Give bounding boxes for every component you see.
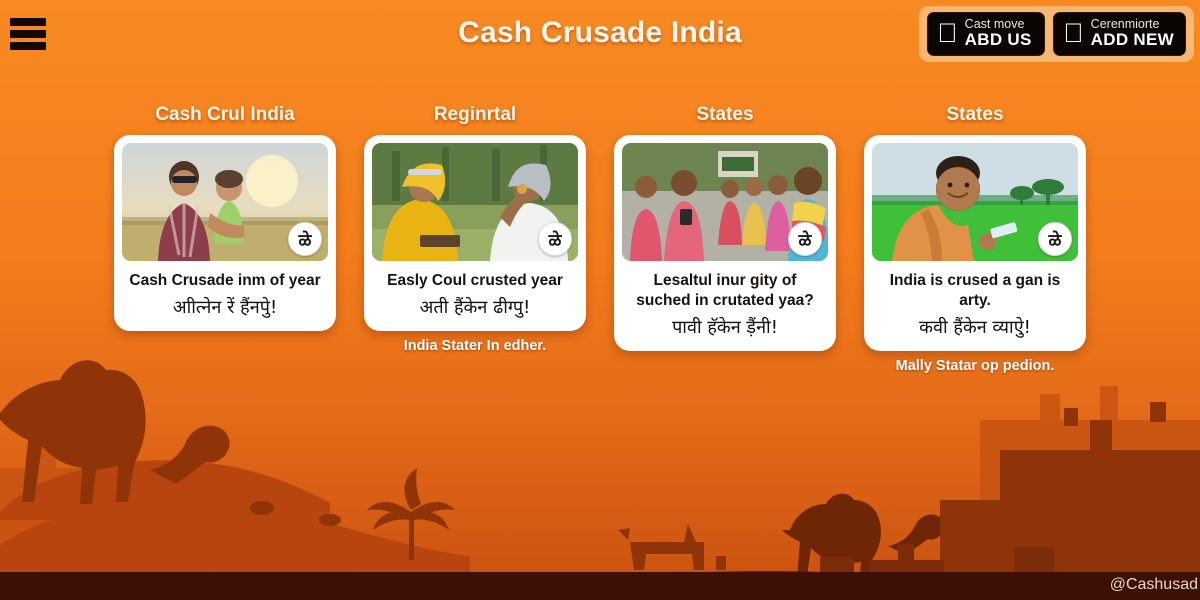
card-badge-icon: ळे — [288, 222, 322, 256]
store-button-add-new[interactable]:  Cerenmiorte ADD NEW — [1053, 12, 1186, 56]
card-badge-icon: ळे — [1038, 222, 1072, 256]
card-column: Cash Crul India — [114, 104, 336, 374]
card-badge-icon: ळे — [788, 222, 822, 256]
card-image: ळे — [122, 143, 328, 261]
app-header: Cash Crusade India  Cast move ABD US  … — [0, 0, 1200, 72]
apple-icon:  — [937, 20, 957, 46]
card-title-hi: आीत्नेन रें हैंनपुे! — [129, 296, 320, 319]
store-button-bottom-label: ADD NEW — [1091, 31, 1174, 49]
store-button-abd-us[interactable]:  Cast move ABD US — [927, 12, 1045, 56]
card-heading: Cash Crul India — [155, 104, 294, 126]
card-heading: States — [946, 104, 1003, 126]
apple-icon:  — [1063, 20, 1083, 46]
card-caption: Mally Statar op pedion. — [896, 358, 1055, 374]
card-title-en: India is crused a gan is arty. — [878, 271, 1072, 311]
store-buttons-group:  Cast move ABD US  Cerenmiorte ADD NEW — [919, 6, 1194, 62]
card-badge-icon: ळे — [538, 222, 572, 256]
card-caption: India Stater In edher. — [404, 338, 547, 354]
card-column: Reginrtal — [364, 104, 586, 374]
card-item[interactable]: ळे India is crused a gan is arty. कवी है… — [864, 135, 1086, 351]
card-title-en: Easly Coul crusted year — [387, 271, 563, 291]
card-item[interactable]: ळे Cash Crusade inm of year आीत्नेन रें … — [114, 135, 336, 331]
card-image: ळे — [872, 143, 1078, 261]
card-item[interactable]: ळे Lesaltul inur gity of suched in cruta… — [614, 135, 836, 351]
card-body: Lesaltul inur gity of suched in crutated… — [622, 261, 828, 339]
card-body: Cash Crusade inm of year आीत्नेन रें हैं… — [123, 261, 326, 319]
card-title-en: Lesaltul inur gity of suched in crutated… — [628, 271, 822, 311]
card-title-hi: पावी हॅकेन ड़ैंनी! — [628, 316, 822, 339]
card-title-en: Cash Crusade inm of year — [129, 271, 320, 291]
store-button-bottom-label: ABD US — [965, 31, 1032, 49]
card-title-hi: अती हैंकेन ढीग्पु! — [387, 296, 563, 319]
card-body: Easly Coul crusted year अती हैंकेन ढीग्प… — [381, 261, 569, 319]
card-column: States — [864, 104, 1086, 374]
card-image: ळे — [622, 143, 828, 261]
card-heading: States — [696, 104, 753, 126]
card-body: India is crused a gan is arty. कवी हैंके… — [872, 261, 1078, 339]
card-image: ळे — [372, 143, 578, 261]
card-title-hi: कवी हैंकेन व्याएुे! — [878, 316, 1072, 339]
card-item[interactable]: ळे Easly Coul crusted year अती हैंकेन ढी… — [364, 135, 586, 331]
card-grid: Cash Crul India — [0, 104, 1200, 374]
card-heading: Reginrtal — [434, 104, 516, 126]
card-column: States — [614, 104, 836, 374]
watermark: @Cashusad — [1110, 576, 1198, 594]
